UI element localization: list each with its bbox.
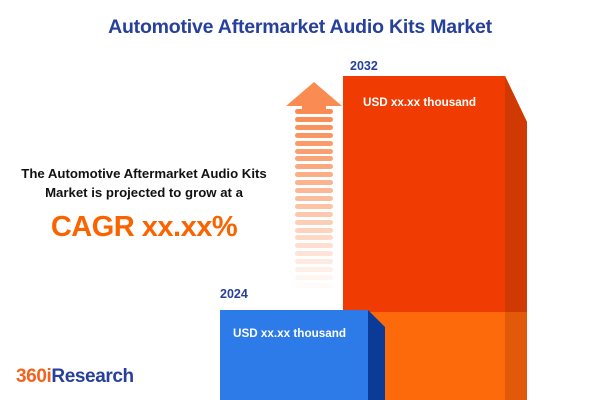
bar-2024 <box>220 310 385 400</box>
arrow-stripe <box>295 267 333 272</box>
bar-value-2032: USD xx.xx thousand <box>363 96 476 109</box>
arrow-stripe <box>295 212 333 217</box>
logo-text-360: 360 <box>16 366 47 387</box>
up-arrow-icon <box>286 82 342 110</box>
arrow-stripe <box>295 235 333 240</box>
arrow-stripe <box>295 243 333 248</box>
arrow-stripe <box>295 125 333 130</box>
arrow-stripe <box>295 204 333 209</box>
arrow-stripe <box>295 259 333 264</box>
arrow-stripe <box>295 133 333 138</box>
arrow-stripe <box>295 156 333 161</box>
cagr-value: CAGR xx.xx% <box>8 211 280 244</box>
growth-arrow <box>286 82 342 297</box>
page-title: Automotive Aftermarket Audio Kits Market <box>0 16 600 39</box>
brand-logo: 360iResearch <box>16 366 134 388</box>
statement-block: The Automotive Aftermarket Audio Kits Ma… <box>8 164 280 244</box>
arrow-shaft-stripes <box>295 109 333 297</box>
bar-label-2024: 2024 <box>220 287 248 301</box>
logo-text-research: Research <box>51 366 133 387</box>
arrow-stripe <box>295 117 333 122</box>
arrow-stripe <box>295 220 333 225</box>
arrow-stripe <box>295 149 333 154</box>
arrow-stripe <box>295 283 333 288</box>
arrow-stripe <box>295 172 333 177</box>
arrow-stripe <box>295 196 333 201</box>
arrow-stripe <box>295 188 333 193</box>
arrow-stripe <box>295 251 333 256</box>
infographic-canvas: Automotive Aftermarket Audio Kits Market <box>0 0 600 400</box>
arrow-stripe <box>295 180 333 185</box>
bar-value-2024: USD xx.xx thousand <box>233 327 346 340</box>
arrow-stripe <box>295 228 333 233</box>
arrow-stripe <box>295 109 333 114</box>
arrow-stripe <box>295 141 333 146</box>
growth-statement: The Automotive Aftermarket Audio Kits Ma… <box>8 164 280 202</box>
arrow-stripe <box>295 275 333 280</box>
bar-label-2032: 2032 <box>350 59 378 73</box>
arrow-stripe <box>295 164 333 169</box>
